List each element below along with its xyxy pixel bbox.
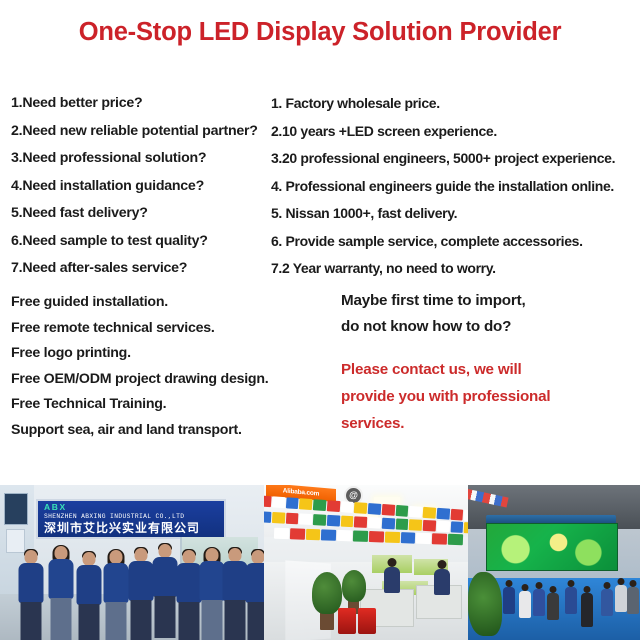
red-cabinet — [358, 608, 376, 634]
question-item: 3.Need professional solution? — [11, 145, 269, 173]
photo-company-team: ABX SHENZHEN ABXING INDUSTRIAL CO.,LTD 深… — [0, 485, 264, 640]
questions-list: 1.Need better price? 2.Need new reliable… — [11, 90, 269, 283]
question-item: 2.Need new reliable potential partner? — [11, 118, 269, 146]
photo-strip: ABX SHENZHEN ABXING INDUSTRIAL CO.,LTD 深… — [0, 485, 640, 640]
expo-visitor — [626, 580, 639, 614]
answer-item: 2.10 years +LED screen experience. — [271, 118, 639, 146]
cta-line-2: provide you with professional — [341, 383, 631, 410]
expo-visitor — [518, 584, 531, 618]
promo-question-line-1: Maybe first time to import, — [341, 288, 631, 314]
photo-office-interior: Alibaba.com @ — [264, 485, 468, 640]
plant-pot — [320, 612, 334, 630]
photo-expo-booth — [468, 485, 640, 640]
led-display-wall — [486, 523, 618, 571]
answer-item: 7.2 Year warranty, no need to worry. — [271, 255, 639, 283]
cta-line-1: Please contact us, we will — [341, 356, 631, 383]
wall-poster — [4, 493, 28, 525]
expo-visitor — [546, 586, 559, 620]
free-service-item: Support sea, air and land transport. — [11, 418, 301, 444]
question-item: 6.Need sample to test quality? — [11, 228, 269, 256]
expo-visitor — [600, 582, 613, 616]
answer-item: 1. Factory wholesale price. — [271, 90, 639, 118]
contact-promo-block: Maybe first time to import, do not know … — [341, 288, 631, 437]
free-service-item: Free OEM/ODM project drawing design. — [11, 367, 301, 393]
free-service-item: Free remote technical services. — [11, 316, 301, 342]
expo-plant — [468, 572, 502, 636]
expo-visitor — [532, 582, 545, 616]
expo-visitor — [564, 580, 577, 614]
team-member — [128, 548, 154, 634]
question-item: 1.Need better price? — [11, 90, 269, 118]
expo-visitor — [502, 580, 515, 614]
team-member — [245, 550, 264, 640]
company-sign: ABX SHENZHEN ABXING INDUSTRIAL CO.,LTD 深… — [36, 499, 226, 539]
question-item: 5.Need fast delivery? — [11, 200, 269, 228]
contact-cta[interactable]: Please contact us, we will provide you w… — [341, 356, 631, 437]
company-name-chinese: 深圳市艾比兴实业有限公司 — [44, 521, 221, 536]
free-service-item: Free Technical Training. — [11, 392, 301, 418]
answer-item: 6. Provide sample service, complete acce… — [271, 228, 639, 256]
office-worker — [384, 567, 400, 593]
free-service-item: Free logo printing. — [11, 341, 301, 367]
team-member — [103, 550, 129, 640]
office-worker — [434, 569, 450, 595]
company-name-english: SHENZHEN ABXING INDUSTRIAL CO.,LTD — [44, 512, 221, 521]
expo-visitor — [580, 586, 593, 628]
company-logo-text: ABX — [44, 503, 221, 512]
free-service-item: Free guided installation. — [11, 290, 301, 316]
question-item: 7.Need after-sales service? — [11, 255, 269, 283]
promo-question-line-2: do not know how to do? — [341, 314, 631, 340]
answers-list: 1. Factory wholesale price. 2.10 years +… — [271, 90, 639, 283]
free-services-list: Free guided installation. Free remote te… — [11, 290, 301, 443]
red-cabinet — [338, 608, 356, 634]
answer-item: 3.20 professional engineers, 5000+ proje… — [271, 145, 639, 173]
team-member — [76, 552, 102, 636]
team-member — [18, 550, 44, 638]
cta-line-3: services. — [341, 410, 631, 437]
team-member — [152, 544, 178, 640]
question-item: 4.Need installation guidance? — [11, 173, 269, 201]
page-title: One-Stop LED Display Solution Provider — [0, 18, 640, 47]
potted-plant — [342, 570, 366, 602]
answer-item: 4. Professional engineers guide the inst… — [271, 173, 639, 201]
answer-item: 5. Nissan 1000+, fast delivery. — [271, 200, 639, 228]
promo-banner: One-Stop LED Display Solution Provider 1… — [0, 0, 640, 640]
team-member — [48, 546, 74, 640]
